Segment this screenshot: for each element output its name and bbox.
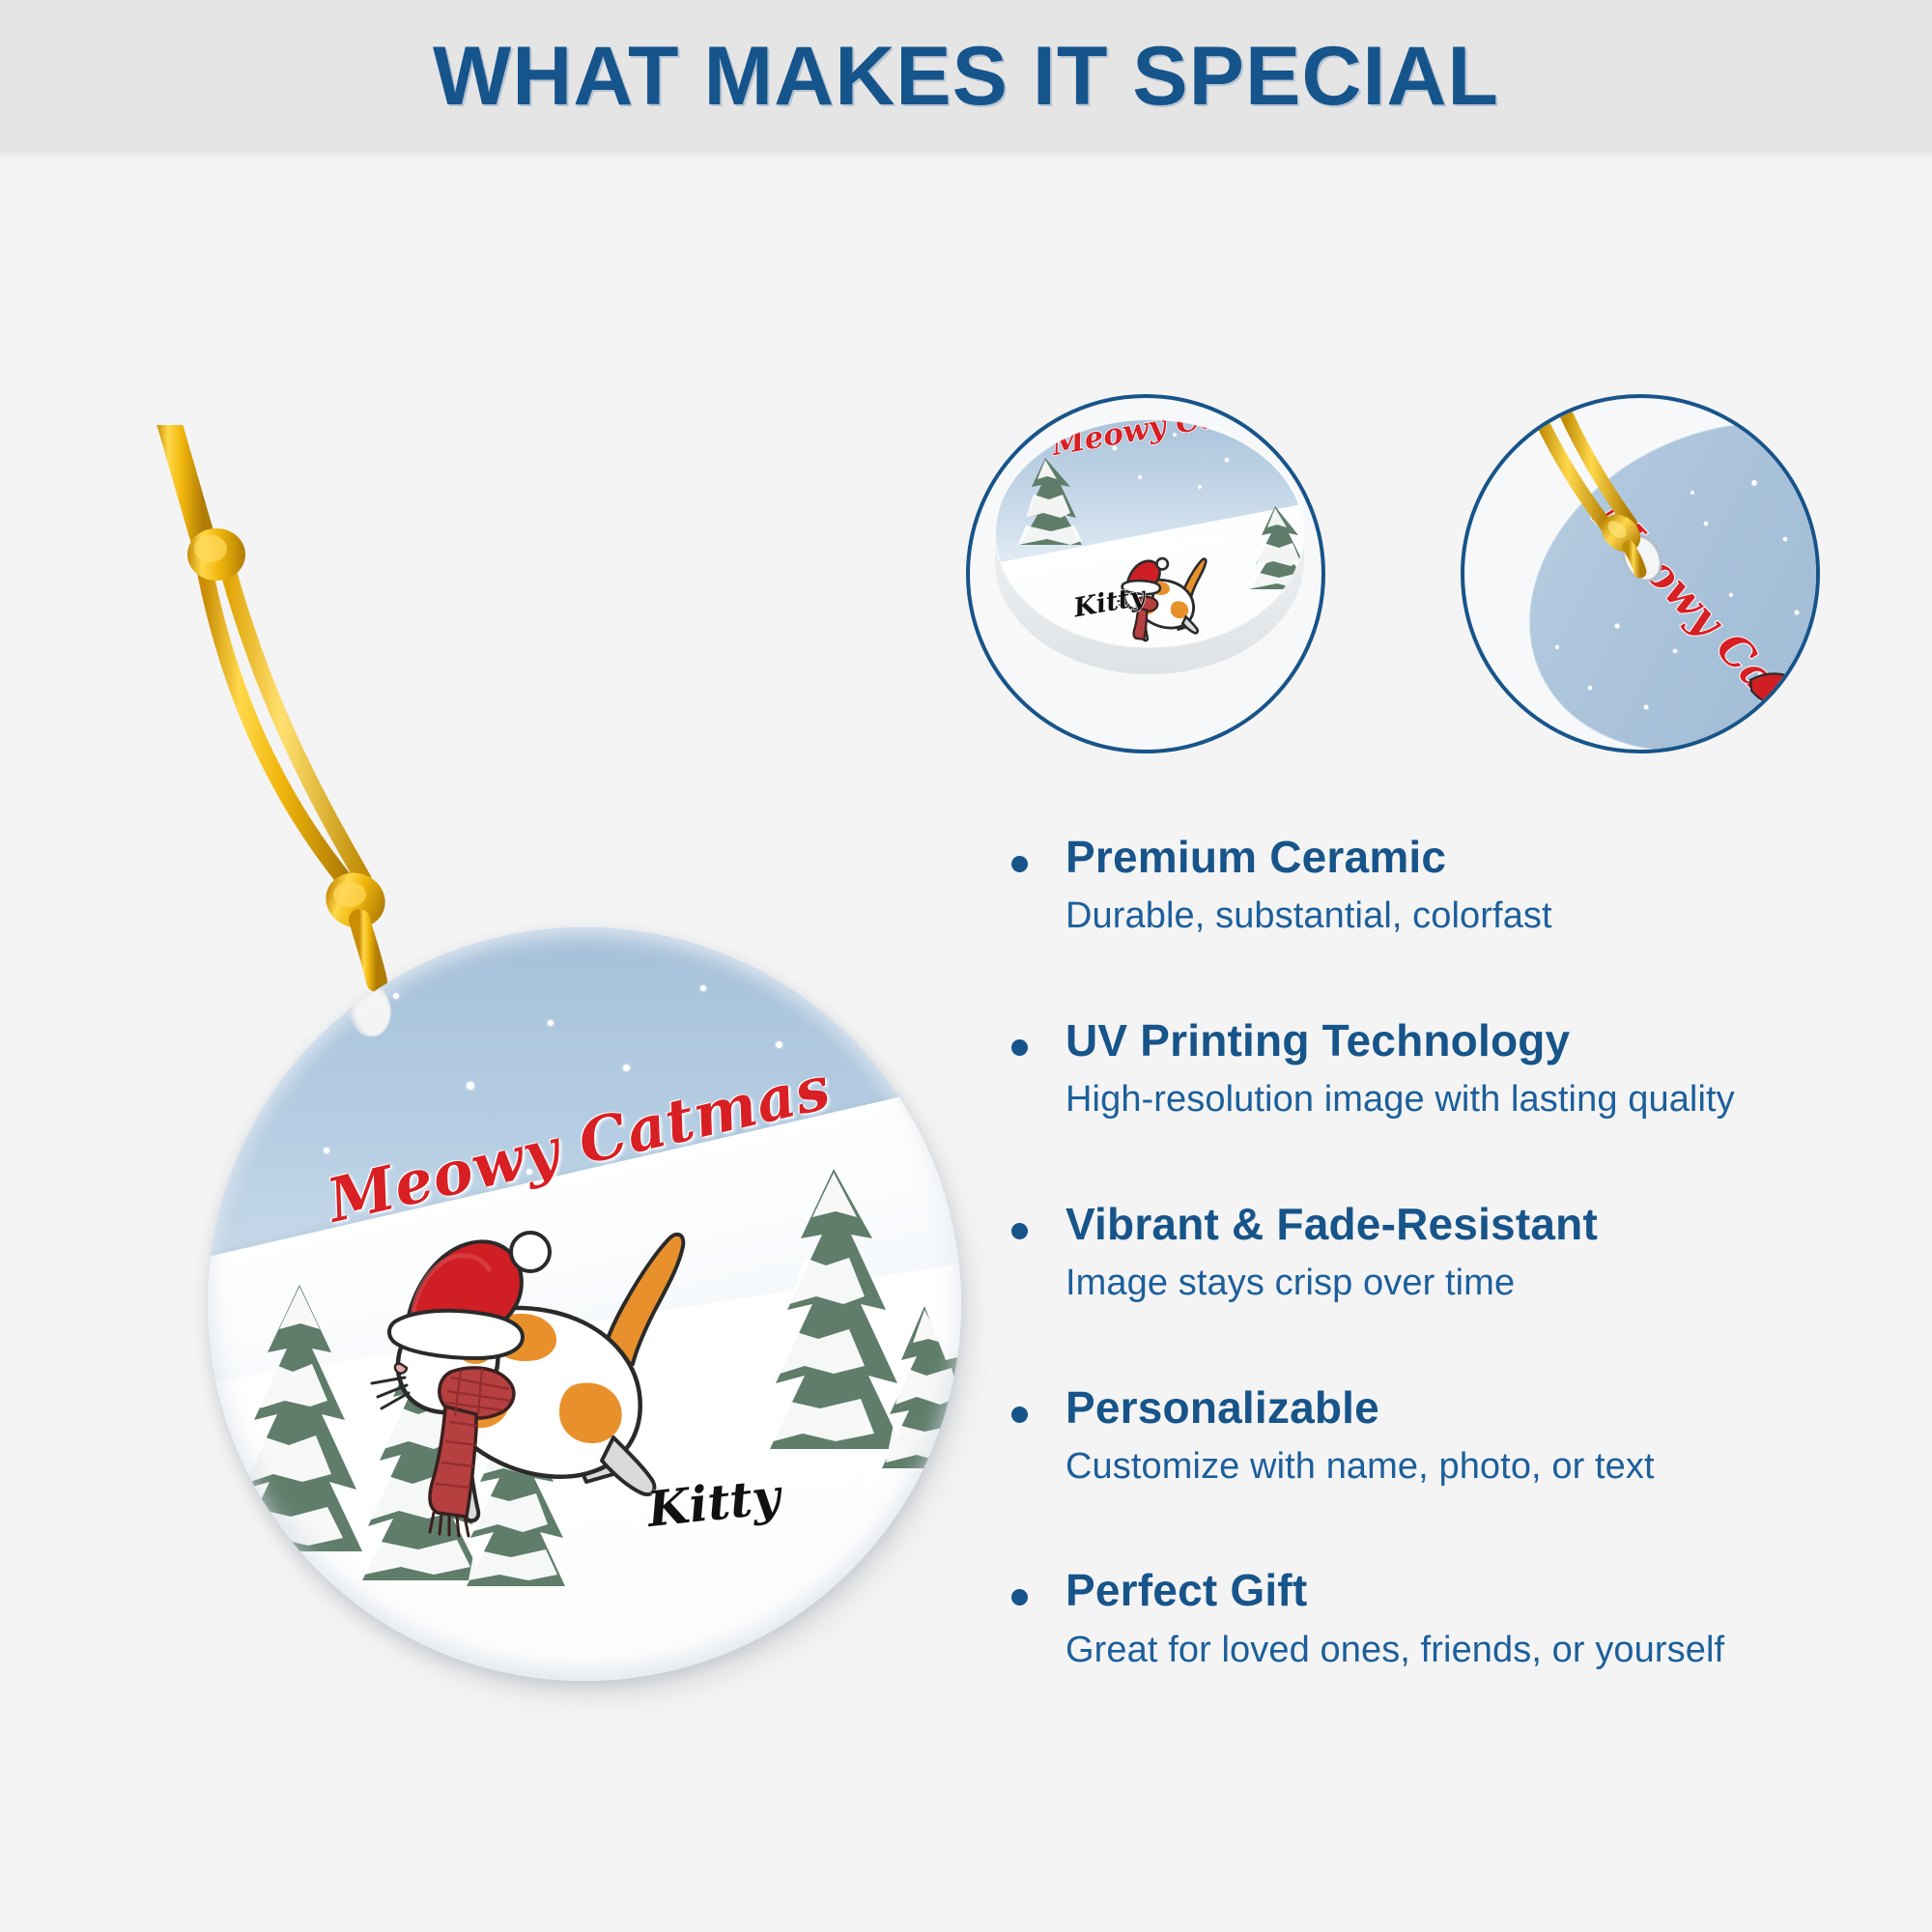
features-list: Premium Ceramic Durable, substantial, co… bbox=[1000, 831, 1913, 1672]
feature-description: Customize with name, photo, or text bbox=[1065, 1445, 1913, 1490]
header-divider bbox=[0, 153, 1932, 158]
infographic-page: WHAT MAKES IT SPECIAL bbox=[0, 0, 1932, 1932]
inset-hole-graphic: Meowy Catmas bbox=[1464, 398, 1816, 750]
bullet-icon bbox=[1011, 1039, 1028, 1056]
inset-hanging-hole-closeup: Meowy Catmas bbox=[1461, 394, 1820, 753]
ornament-disc-wrapper: Meowy Catmas bbox=[208, 927, 971, 1690]
feature-title: Vibrant & Fade-Resistant bbox=[1065, 1198, 1913, 1250]
inset-product-graphic: Meowy Catm bbox=[970, 398, 1321, 750]
feature-item-uv-printing: UV Printing Technology High-resolution i… bbox=[1000, 1014, 1913, 1122]
bullet-icon bbox=[1011, 1223, 1028, 1239]
header-band: WHAT MAKES IT SPECIAL bbox=[0, 0, 1932, 153]
feature-title: Perfect Gift bbox=[1065, 1564, 1913, 1616]
feature-item-vibrant-fade-resistant: Vibrant & Fade-Resistant Image stays cri… bbox=[1000, 1198, 1913, 1306]
feature-description: Durable, substantial, colorfast bbox=[1065, 895, 1913, 939]
bullet-icon bbox=[1011, 1406, 1028, 1423]
page-title: WHAT MAKES IT SPECIAL bbox=[433, 29, 1499, 125]
feature-item-premium-ceramic: Premium Ceramic Durable, substantial, co… bbox=[1000, 831, 1913, 939]
feature-title: Premium Ceramic bbox=[1065, 831, 1913, 883]
feature-title: Personalizable bbox=[1065, 1381, 1913, 1434]
feature-description: High-resolution image with lasting quali… bbox=[1065, 1078, 1913, 1122]
feature-item-perfect-gift: Perfect Gift Great for loved ones, frien… bbox=[1000, 1564, 1913, 1672]
ornament-disc: Meowy Catmas bbox=[208, 927, 961, 1681]
feature-description: Great for loved ones, friends, or yourse… bbox=[1065, 1629, 1913, 1673]
inset-product-angle-view: Meowy Catm bbox=[966, 394, 1325, 753]
feature-description: Image stays crisp over time bbox=[1065, 1262, 1913, 1306]
feature-item-personalizable: Personalizable Customize with name, phot… bbox=[1000, 1381, 1913, 1490]
bullet-icon bbox=[1011, 856, 1028, 872]
bullet-icon bbox=[1011, 1589, 1028, 1605]
hero-product: Meowy Catmas bbox=[145, 425, 1014, 1739]
feature-title: UV Printing Technology bbox=[1065, 1014, 1913, 1066]
cat-illustration bbox=[208, 927, 961, 1681]
